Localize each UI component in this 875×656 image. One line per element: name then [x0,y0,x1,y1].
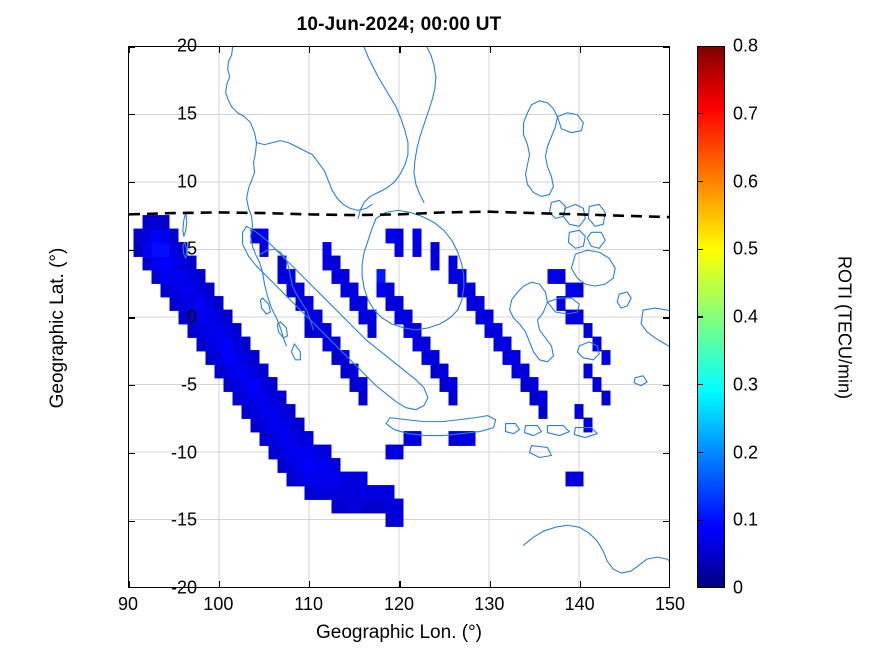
y-tick [663,385,669,386]
colorbar-tick-label: 0 [733,578,743,599]
y-tick [129,521,135,522]
colorbar-tick-label: 0.5 [733,239,758,260]
y-tick [663,114,669,115]
y-tick-label: -15 [171,510,197,531]
colorbar-tick [697,452,703,453]
x-tick-label: 100 [203,594,233,615]
x-axis-title: Geographic Lon. (°) [128,622,670,644]
y-tick [129,114,135,115]
y-tick [129,46,135,47]
x-tick [309,581,310,587]
x-tick [399,47,400,53]
x-tick [490,581,491,587]
y-tick-label: -5 [181,374,197,395]
y-tick [129,385,135,386]
colorbar-tick-label: 0.8 [733,36,758,57]
y-tick [129,453,135,454]
y-tick-label: 5 [187,239,197,260]
colorbar-tick [697,181,703,182]
x-tick-label: 90 [118,594,138,615]
colorbar-tick [697,249,703,250]
colorbar-tick-label: 0.4 [733,307,758,328]
y-tick-label: 10 [177,171,197,192]
x-tick [399,581,400,587]
geomagnetic-equator-path [129,212,669,217]
geomagnetic-equator-line [129,47,669,587]
colorbar-tick [697,113,703,114]
y-tick [129,317,135,318]
x-tick-label: 110 [294,594,323,615]
x-tick [219,581,220,587]
y-tick-label: 0 [187,307,197,328]
colorbar-tick-label: 0.6 [733,171,758,192]
y-tick-label: -20 [171,578,197,599]
x-tick [128,47,129,53]
x-tick [219,47,220,53]
figure-canvas: 10-Jun-2024; 00:00 UT [0,0,875,656]
y-axis-title: Geographic Lat. (°) [47,57,69,599]
x-tick-label: 150 [655,594,685,615]
chart-title: 10-Jun-2024; 00:00 UT [128,14,670,36]
x-tick [490,47,491,53]
x-tick [580,581,581,587]
x-tick-label: 140 [565,594,595,615]
y-tick [129,250,135,251]
y-tick [129,182,135,183]
colorbar-tick-label: 0.3 [733,374,758,395]
colorbar-tick [697,316,703,317]
colorbar-tick-label: 0.2 [733,442,758,463]
y-tick [663,250,669,251]
colorbar-title: ROTI (TECU/min) [834,57,855,599]
x-tick [128,581,129,587]
y-tick-label: 15 [177,103,197,124]
colorbar-tick-label: 0.7 [733,103,758,124]
colorbar-tick [697,384,703,385]
plot-axes[interactable] [128,46,670,588]
x-tick [580,47,581,53]
x-tick-label: 120 [384,594,414,615]
x-tick-label: 130 [474,594,504,615]
y-tick [663,317,669,318]
y-tick [663,182,669,183]
colorbar-tick [697,520,703,521]
y-tick [663,453,669,454]
y-tick-label: 20 [177,36,197,57]
colorbar-tick-label: 0.1 [733,510,758,531]
x-tick [309,47,310,53]
y-tick [663,521,669,522]
y-tick [663,46,669,47]
y-tick-label: -10 [171,442,197,463]
